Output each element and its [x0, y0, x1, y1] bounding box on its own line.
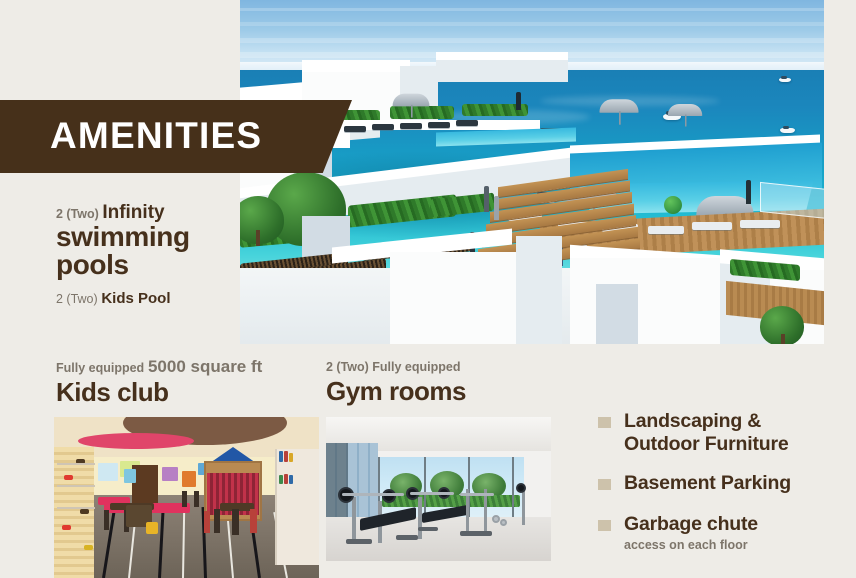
- list-item: Basement Parking: [598, 472, 848, 495]
- ceiling-oval-pink: [78, 433, 195, 449]
- shelf-row: [57, 507, 95, 509]
- book: [289, 453, 293, 462]
- list-item-label-line1: Landscaping &: [624, 410, 848, 433]
- building-wall-shadow: [516, 236, 562, 344]
- lounger: [400, 123, 422, 129]
- pools-title-infinity: Infinity: [102, 202, 164, 223]
- outdoor-hedge: [382, 495, 520, 507]
- parasol: [668, 104, 703, 116]
- shelf-row: [57, 485, 95, 487]
- window-mullion: [512, 457, 514, 519]
- weight-plate: [516, 483, 526, 493]
- amenities-banner: AMENITIES: [0, 100, 352, 173]
- page-title: AMENITIES: [50, 114, 262, 158]
- book: [289, 475, 293, 484]
- kids-pool-title: Kids Pool: [101, 290, 170, 307]
- climbing-hold: [64, 475, 73, 480]
- kids-pool-line: 2 (Two) Kids Pool: [56, 291, 236, 307]
- rack-foot: [460, 531, 492, 536]
- chair: [214, 509, 220, 533]
- climbing-hold: [62, 525, 71, 530]
- pools-text-block: 2 (Two) Infinity swimming pools 2 (Two) …: [56, 204, 236, 307]
- amenities-list: Landscaping & Outdoor Furniture Basement…: [598, 410, 848, 569]
- lounger: [456, 120, 478, 126]
- bench-foot: [346, 539, 372, 544]
- gym-heading: 2 (Two) Fully equipped Gym rooms: [326, 358, 466, 406]
- dumbbell: [500, 519, 507, 526]
- kids-club-eyebrow: Fully equipped 5000 square ft: [56, 358, 262, 377]
- barbell: [460, 493, 494, 496]
- person: [746, 180, 751, 204]
- building-face: [436, 60, 568, 82]
- building-wall: [390, 252, 518, 344]
- bookshelf: [275, 449, 319, 565]
- book: [284, 474, 288, 484]
- lounger: [372, 124, 394, 130]
- book: [279, 475, 283, 484]
- kids-pool-count: 2 (Two): [56, 292, 98, 306]
- lounger: [692, 222, 732, 230]
- square-bullet-icon: [598, 520, 611, 531]
- building-wall: [570, 258, 720, 344]
- person: [484, 186, 489, 212]
- square-bullet-icon: [598, 479, 611, 490]
- list-item-subtext: access on each floor: [624, 537, 848, 553]
- list-item: Garbage chute access on each floor: [598, 513, 848, 553]
- chair: [204, 511, 210, 533]
- kids-club-image: [54, 417, 319, 578]
- chair: [104, 510, 109, 530]
- shelf-row: [57, 463, 95, 465]
- chair: [250, 509, 257, 533]
- chair: [182, 491, 187, 507]
- mirror: [326, 443, 348, 521]
- amenities-slide: AMENITIES 2 (Two) Infinity swimming pool…: [0, 0, 856, 578]
- chair: [232, 509, 239, 535]
- pools-title-line2: swimming: [56, 223, 236, 251]
- parasol: [393, 94, 430, 107]
- kids-club-title: Kids club: [56, 377, 262, 407]
- boat: [779, 78, 791, 82]
- gym-title: Gym rooms: [326, 376, 466, 406]
- dumbbell: [492, 515, 500, 523]
- rack-post: [522, 489, 525, 525]
- list-item-label-line1: Garbage chute: [624, 513, 848, 536]
- kids-stool: [146, 522, 158, 534]
- gym-eyebrow: 2 (Two) Fully equipped: [326, 358, 466, 376]
- lounger: [740, 220, 780, 228]
- window: [98, 463, 118, 481]
- tree: [760, 306, 804, 344]
- wall-panel: [124, 469, 136, 483]
- lounger: [648, 226, 684, 234]
- book: [279, 451, 283, 462]
- gym-image: [326, 417, 551, 561]
- tree: [240, 196, 284, 244]
- kids-club-heading: Fully equipped 5000 square ft Kids club: [56, 358, 262, 407]
- lounger: [428, 122, 450, 128]
- book: [284, 451, 288, 462]
- pools-count: 2 (Two): [56, 207, 99, 221]
- hedge: [390, 106, 454, 119]
- weight-plate: [382, 489, 396, 503]
- gym-eyebrow-lead: 2 (Two) Fully equipped: [326, 360, 461, 374]
- wall-panel: [182, 471, 196, 487]
- cloud-band: [240, 8, 824, 11]
- pool-ball: [664, 196, 682, 214]
- barbell: [342, 493, 404, 496]
- list-item: Landscaping & Outdoor Furniture: [598, 410, 848, 456]
- cloud-band: [240, 38, 824, 43]
- window-mullion: [424, 457, 426, 519]
- list-item-label-line1: Basement Parking: [624, 472, 848, 495]
- chair: [194, 491, 199, 507]
- pools-title-line3: pools: [56, 251, 236, 279]
- person: [494, 196, 499, 220]
- kids-club-area: 5000 square ft: [148, 357, 262, 376]
- rack-post: [352, 497, 356, 543]
- barbell: [410, 492, 454, 495]
- bench-foot: [396, 535, 418, 540]
- boat: [780, 128, 795, 133]
- square-bullet-icon: [598, 417, 611, 428]
- list-item-label-line2: Outdoor Furniture: [624, 433, 848, 456]
- recess-shadow: [596, 284, 638, 344]
- kids-club-eyebrow-lead: Fully equipped: [56, 361, 144, 375]
- bench-foot: [418, 527, 438, 531]
- person: [516, 92, 521, 110]
- parasol: [599, 99, 638, 113]
- climbing-hold: [80, 509, 89, 514]
- cloud-band: [240, 22, 824, 26]
- wall-panel: [162, 467, 178, 481]
- climbing-hold: [84, 545, 93, 550]
